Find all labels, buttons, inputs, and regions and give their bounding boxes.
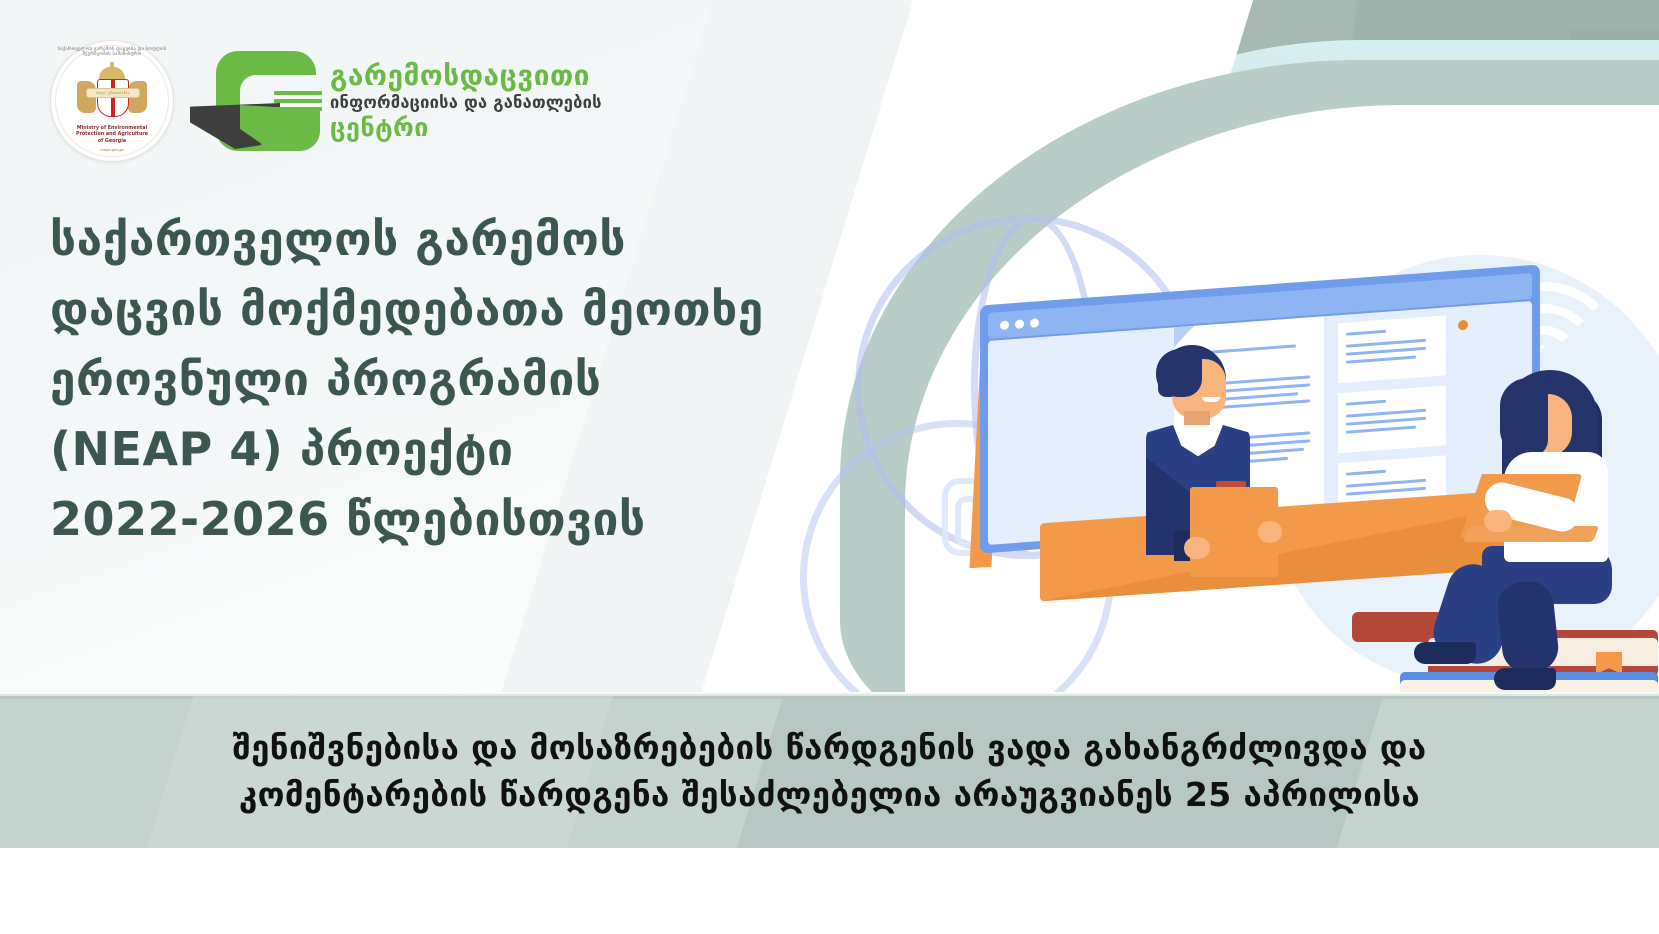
eiec-logo-text: გარემოსდაცვითი ინფორმაციისა და განათლები…: [330, 62, 602, 141]
georgia-ministry-emblem: საქართველოს გარემოს დაცვისა და სოფლის მე…: [50, 40, 174, 162]
eiec-logo-line-3: ცენტრი: [330, 115, 602, 140]
man-hair-front: [1156, 349, 1202, 397]
window-dot-icon: [1015, 319, 1024, 329]
emblem-ring-text: საქართველოს გარემოს დაცვისა და სოფლის მე…: [51, 48, 173, 57]
coat-of-arms-icon: [79, 67, 145, 129]
woman-shoe-right: [1494, 668, 1556, 690]
title-line-1: საქართველოს გარემოს: [50, 205, 770, 275]
woman-shin-right: [1495, 579, 1560, 674]
woman-with-laptop: [1448, 370, 1658, 670]
emblem-english-text: Ministry of Environmental Protection and…: [51, 126, 173, 145]
banner-line-2: კომენტარების წარდგენა შესაძლებელია არაუგ…: [239, 772, 1420, 819]
emblem-motto-text: ძალა ერთობაშია: [87, 89, 139, 97]
eiec-logo: გარემოსდაცვითი ინფორმაციისა და განათლები…: [216, 51, 602, 151]
status-dot-icon: [1458, 320, 1468, 331]
announcement-banner: შენიშვნებისა და მოსაზრებების წარდგენის ვ…: [0, 692, 1659, 848]
shield-icon: [97, 79, 129, 117]
eiec-logo-mark-icon: [216, 51, 316, 151]
man-hand-right: [1258, 521, 1282, 543]
woman-hair-front: [1500, 378, 1548, 456]
footer-strip: [0, 844, 1659, 934]
man-smile: [1202, 397, 1220, 402]
eiec-logo-line-2: ინფორმაციისა და განათლების: [330, 95, 602, 112]
title-line-4: (NEAP 4) პროექტი: [50, 415, 770, 485]
page-title: საქართველოს გარემოს დაცვის მოქმედებათა მ…: [50, 205, 770, 555]
man-with-clipboard: [1128, 345, 1278, 555]
woman-hand: [1484, 510, 1512, 532]
document-thumbnail: [1338, 315, 1446, 383]
title-line-2: დაცვის მოქმედებათა მეოთხე: [50, 275, 770, 345]
eiec-logo-line-1: გარემოსდაცვითი: [330, 62, 602, 90]
window-dot-icon: [1000, 320, 1009, 330]
title-line-3: ეროვნული პროგრამის: [50, 345, 770, 415]
document-fold-corner: [1174, 322, 1198, 348]
emblem-url-text: mepa.gov.ge: [51, 148, 173, 152]
document-thumbnail: [1338, 385, 1446, 453]
man-hand-left: [1184, 537, 1210, 559]
header-logos: საქართველოს გარემოს დაცვისა და სოფლის მე…: [50, 40, 602, 162]
emblem-motto-band: ძალა ერთობაშია: [86, 88, 140, 98]
woman-shoe-left: [1414, 642, 1476, 664]
emblem-en-line-3: of Georgia: [51, 139, 173, 145]
window-dot-icon: [1030, 318, 1039, 328]
laptop-base: [1463, 526, 1599, 542]
poster-canvas: საქართველოს გარემოს დაცვისა და სოფლის მე…: [0, 0, 1659, 934]
title-line-5: 2022-2026 წლებისთვის: [50, 485, 770, 555]
banner-line-1: შენიშვნებისა და მოსაზრებების წარდგენის ვ…: [232, 725, 1426, 772]
